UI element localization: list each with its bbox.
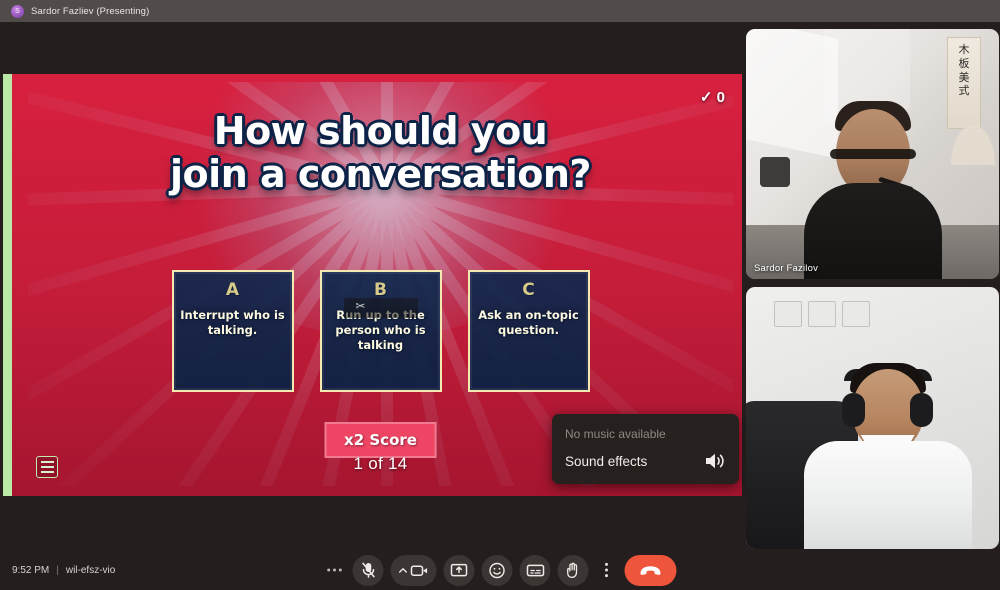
answer-option-b[interactable]: B Run up to the person who is talking — [320, 270, 442, 392]
participant-tile-top[interactable]: 木板美式 Sardor Fazilov — [746, 29, 999, 279]
meeting-time: 9:52 PM — [12, 565, 49, 576]
headphone-cup — [910, 393, 933, 427]
chevron-up-icon[interactable] — [399, 567, 408, 574]
headphone-cup — [842, 393, 865, 427]
sound-effects-label: Sound effects — [565, 454, 647, 469]
present-screen-icon[interactable] — [444, 555, 475, 586]
webcam-feed: 木板美式 — [746, 29, 999, 279]
camera-button[interactable] — [391, 555, 437, 586]
avatar-initial: S — [15, 8, 20, 15]
option-text: Interrupt who is talking. — [179, 308, 287, 338]
more-vertical-icon[interactable] — [596, 555, 618, 586]
avatar: S — [11, 5, 24, 18]
wall-fan — [951, 125, 995, 165]
question-title: How should you join a conversation? — [28, 110, 733, 195]
presenter-label: Sardor Fazliev (Presenting) — [31, 6, 149, 17]
raise-hand-icon[interactable] — [558, 555, 589, 586]
answer-option-a[interactable]: A Interrupt who is talking. — [172, 270, 294, 392]
cursor-overlay — [344, 298, 418, 318]
meeting-meta: 9:52 PM | wil-efsz-vio — [12, 565, 115, 576]
sound-effects-popup[interactable]: No music available Sound effects — [552, 414, 739, 484]
webcam-feed — [746, 287, 999, 549]
bottom-control-bar: 9:52 PM | wil-efsz-vio — [0, 550, 1000, 590]
answer-options: A Interrupt who is talking. B Run up to … — [28, 270, 733, 392]
speaker-icon[interactable] — [704, 451, 726, 471]
option-letter: B — [374, 280, 387, 300]
score-multiplier-badge[interactable]: x2 Score — [324, 422, 437, 458]
meeting-window: S Sardor Fazliev (Presenting) — [0, 0, 1000, 590]
meeting-code: wil-efsz-vio — [66, 565, 115, 576]
participant-name: Sardor Fazilov — [754, 263, 818, 274]
more-horizontal-icon[interactable] — [324, 555, 346, 586]
call-controls — [324, 555, 677, 586]
camera-icon[interactable] — [411, 564, 429, 577]
wall-scroll: 木板美式 — [947, 37, 981, 129]
meta-separator: | — [56, 565, 59, 576]
title-bar: S Sardor Fazliev (Presenting) — [0, 0, 1000, 22]
question-title-line1: How should you — [28, 110, 733, 153]
end-call-icon[interactable] — [625, 555, 677, 586]
hamburger-menu-icon[interactable] — [36, 456, 58, 478]
desk-mug — [760, 157, 790, 187]
question-title-line2: join a conversation? — [28, 153, 733, 196]
microphone-muted-icon[interactable] — [353, 555, 384, 586]
slide-counter: 1 of 14 — [353, 454, 407, 474]
option-text: Ask an on-topic question. — [475, 308, 583, 338]
answered-count-badge: ✓ 0 — [700, 88, 725, 106]
captions-icon[interactable] — [520, 555, 551, 586]
participant-tile-bottom[interactable] — [746, 287, 999, 549]
answer-option-c[interactable]: C Ask an on-topic question. — [468, 270, 590, 392]
emoji-icon[interactable] — [482, 555, 513, 586]
wall-outlets — [774, 301, 870, 327]
no-music-label: No music available — [565, 427, 726, 441]
presentation-stage: How should you join a conversation? A In… — [0, 22, 744, 550]
option-letter: A — [226, 280, 239, 300]
option-letter: C — [522, 280, 534, 300]
